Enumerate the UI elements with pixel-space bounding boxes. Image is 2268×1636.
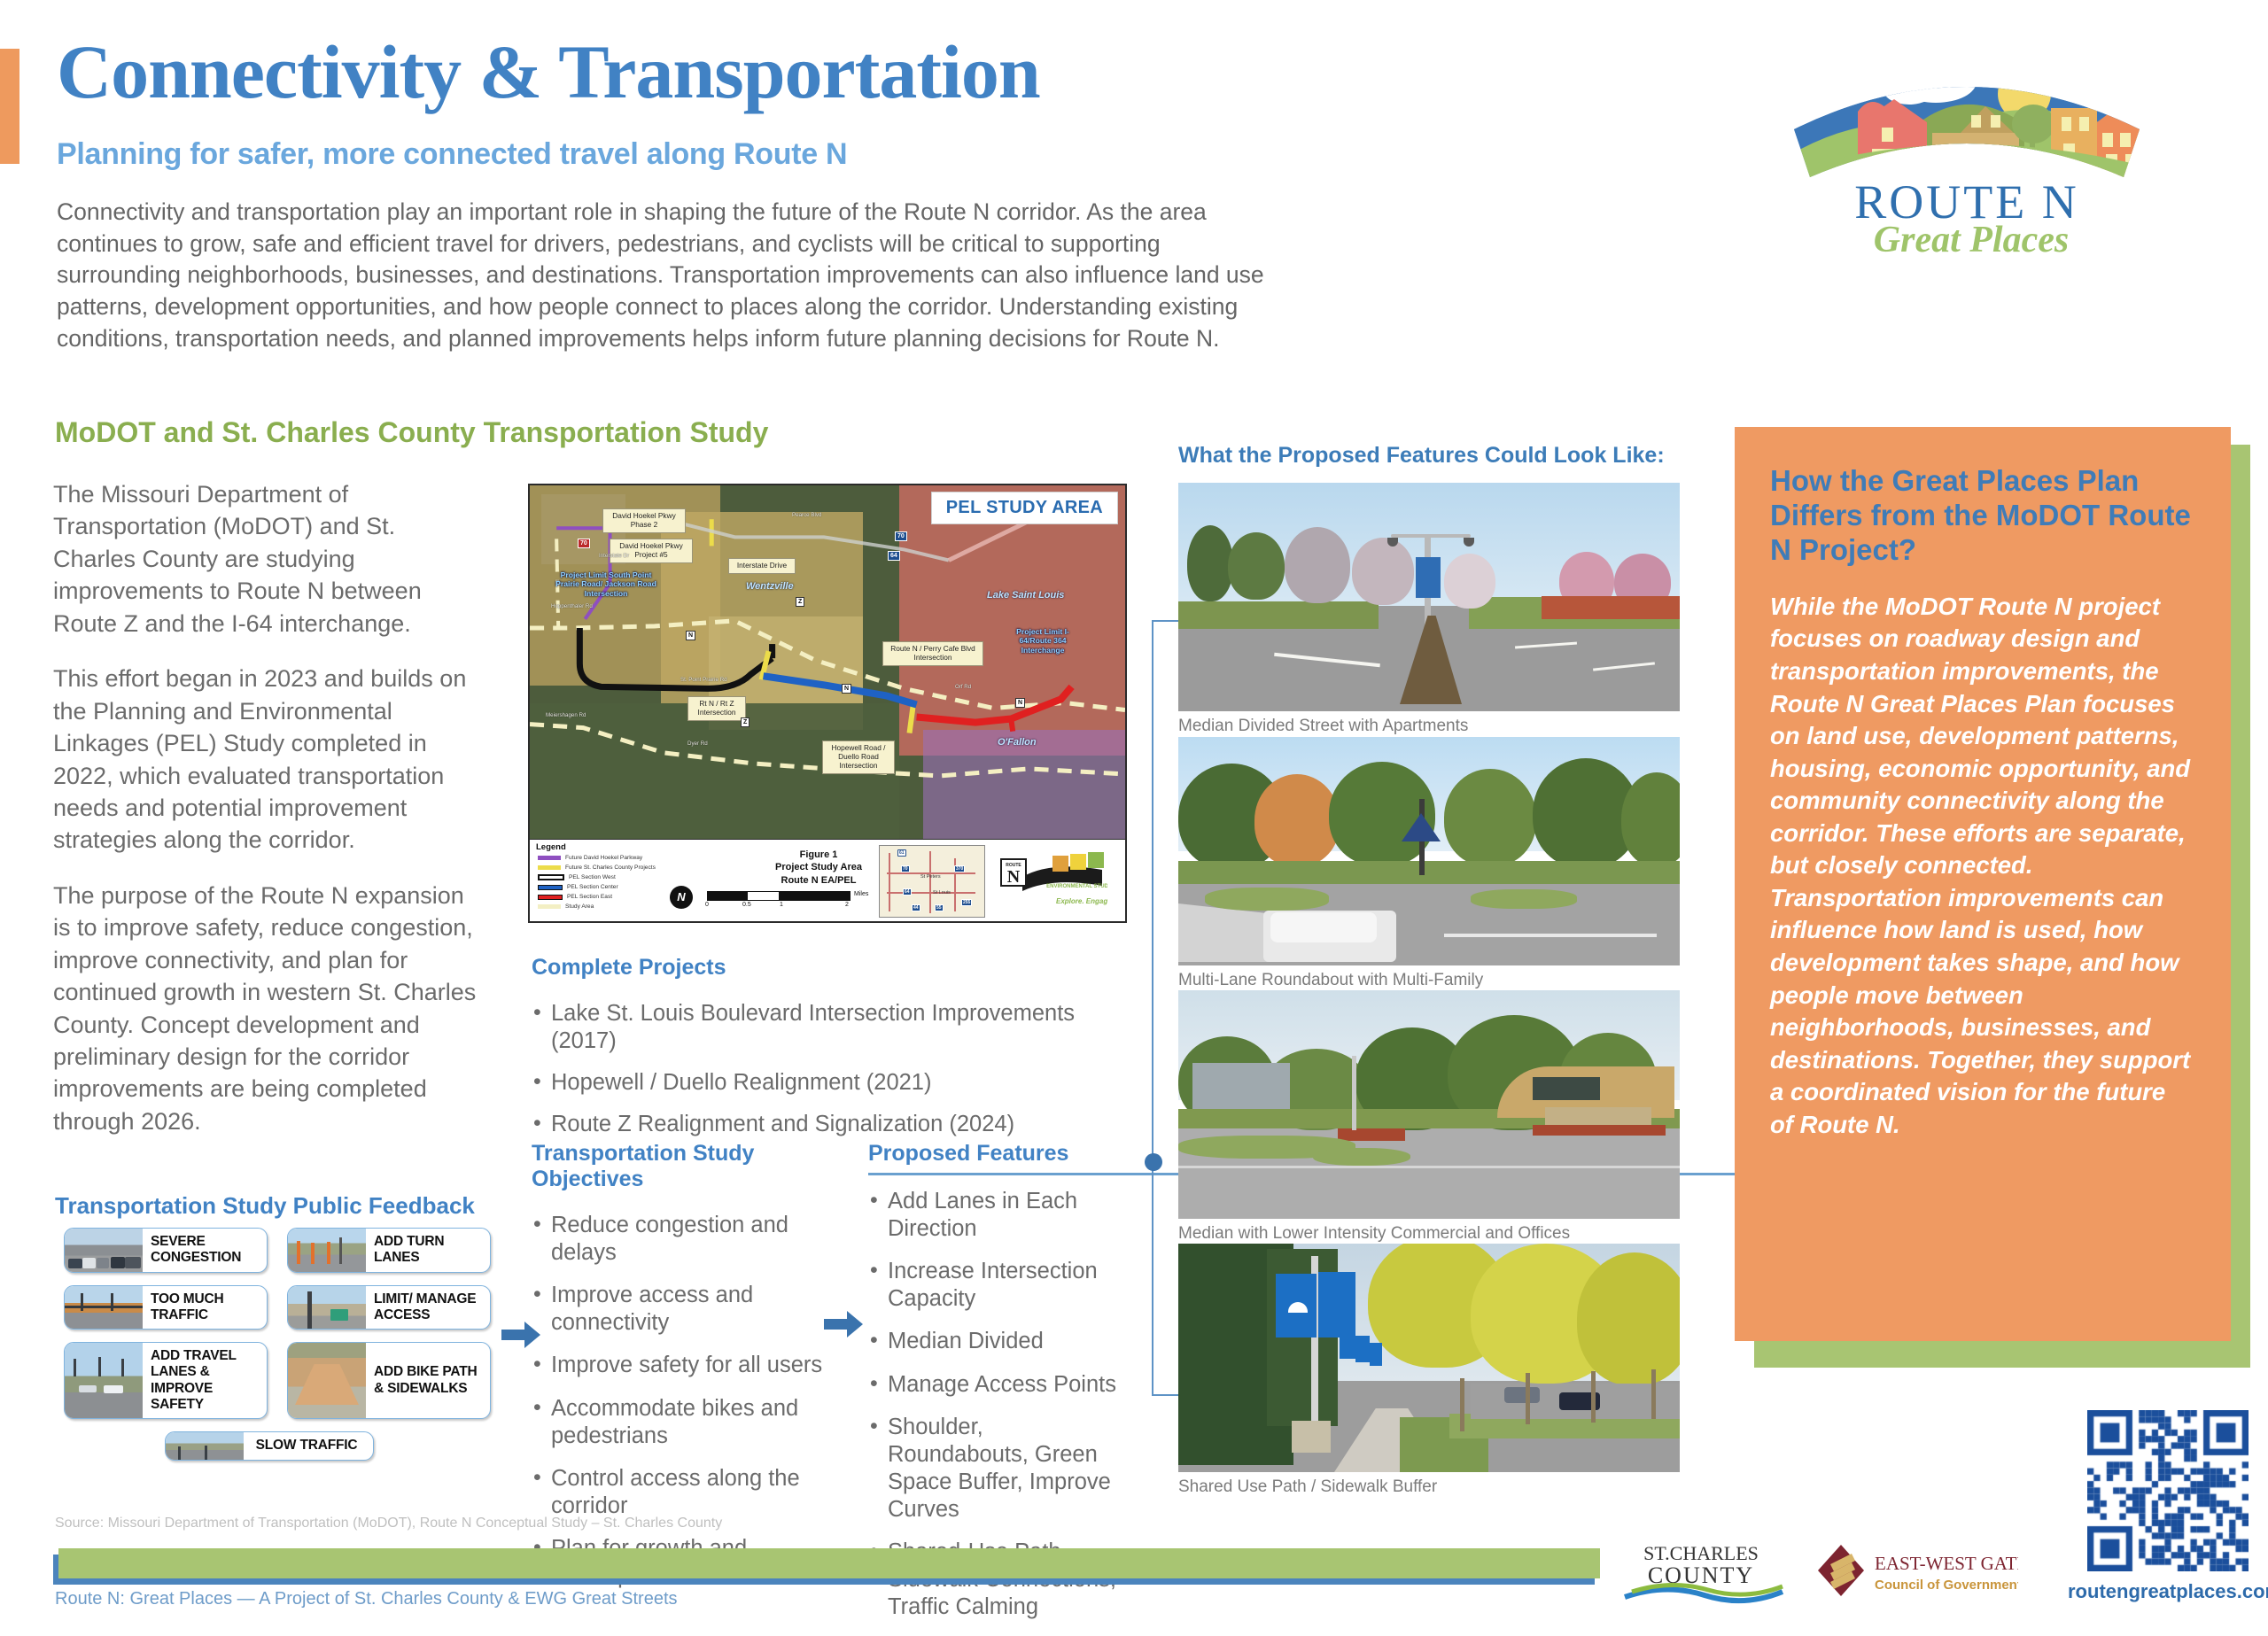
legend-swatch: [538, 885, 563, 890]
map-project-limit: Project Limit I-64/Route 364 Interchange: [1008, 627, 1077, 655]
connector-dot: [1145, 1153, 1162, 1171]
nlogo-text: ENVIRONMENTAL STUDY: [1046, 884, 1107, 889]
feedback-note: SEVERE CONGESTION: [64, 1228, 268, 1273]
legend-label: Future St. Charles County Projects: [565, 865, 656, 871]
route-n-great-places-logo: ROUTE N Great Places: [1759, 25, 2175, 264]
map-callout: Interstate Drive: [728, 558, 796, 574]
inset-shield: 55: [935, 904, 944, 911]
inset-shield: 255: [961, 899, 972, 906]
proposed-features-heading: Proposed Features: [868, 1141, 1125, 1167]
list-item: Route Z Realignment and Signalization (2…: [532, 1111, 1134, 1138]
map-legend-row: Future St. Charles County Projects: [538, 865, 656, 871]
map-route-shield: 70: [895, 531, 907, 541]
feedback-note: ADD TRAVEL LANES & IMPROVE SAFETY: [64, 1342, 268, 1419]
list-item: Manage Access Points: [868, 1371, 1125, 1399]
intro-paragraph: Connectivity and transportation play an …: [57, 197, 1288, 354]
map-road-label: Interstate Dr: [599, 553, 629, 559]
photo-card: Median Divided Street with Apartments: [1178, 483, 1680, 736]
map-city-label: Wentzville: [746, 581, 794, 592]
scale-tick: 1: [780, 902, 783, 908]
legend-swatch: [538, 895, 563, 900]
nlogo-tagline: Explore. Engage. Improve.: [1056, 897, 1107, 905]
feedback-note-label: TOO MUCH TRAFFIC: [143, 1286, 267, 1330]
inset-city: St Peters: [920, 874, 941, 880]
list-item: Accommodate bikes and pedestrians: [532, 1395, 824, 1450]
feedback-note-label: SEVERE CONGESTION: [143, 1229, 267, 1272]
logo-tagline: Great Places: [1874, 220, 2069, 260]
study-paragraph-3: The purpose of the Route N expansion is …: [53, 880, 478, 1138]
objectives-list: Reduce congestion and delays Improve acc…: [532, 1212, 824, 1590]
figure-sub-1: Project Study Area: [739, 861, 898, 873]
study-description: The Missouri Department of Transportatio…: [53, 478, 478, 1160]
map-callout: David Hoekel Pkwy Project #5: [610, 539, 693, 563]
map-road-label: Meiershagen Rd: [546, 712, 586, 718]
public-feedback-heading: Transportation Study Public Feedback: [55, 1192, 475, 1220]
list-item: Median Divided: [868, 1328, 1125, 1355]
scale-unit: Miles: [854, 891, 868, 897]
svg-text:N: N: [1007, 867, 1021, 887]
map-legend-row: Study Area: [538, 903, 594, 910]
feedback-thumbnail: [65, 1286, 143, 1330]
study-paragraph-2: This effort began in 2023 and builds on …: [53, 663, 478, 857]
section-heading: MoDOT and St. Charles County Transportat…: [55, 416, 768, 449]
feedback-note: SLOW TRAFFIC: [165, 1431, 374, 1460]
objectives-heading: Transportation Study Objectives: [532, 1141, 824, 1192]
map-scale-bar: [707, 891, 850, 901]
map-road-label: Hoppenthaler Rd: [551, 603, 593, 609]
list-item: Increase Intersection Capacity: [868, 1258, 1125, 1313]
inset-shield: 61: [897, 849, 906, 857]
legend-label: PEL Section West: [569, 874, 616, 880]
photo-multilane-roundabout: [1178, 737, 1680, 965]
map-legend-row: PEL Section West: [538, 874, 616, 880]
legend-swatch: [538, 874, 564, 880]
scale-tick: 0.5: [742, 902, 751, 908]
inset-shield: 70: [901, 865, 910, 872]
feedback-thumbnail: [288, 1229, 366, 1272]
panel-body: While the MoDOT Route N project focuses …: [1735, 568, 2231, 1142]
accent-tab: [0, 49, 19, 164]
feedback-note: ADD BIKE PATH & SIDEWALKS: [287, 1342, 491, 1419]
photo-card: Median with Lower Intensity Commercial a…: [1178, 990, 1680, 1244]
map-legend-row: Future David Hoekel Parkway: [538, 855, 642, 861]
legend-swatch: [538, 865, 561, 870]
list-item: Improve access and connectivity: [532, 1282, 824, 1337]
photo-caption: Median with Lower Intensity Commercial a…: [1178, 1219, 1680, 1244]
inset-city: St Louis: [933, 890, 951, 896]
map-road-label: Pearce Blvd: [792, 512, 821, 518]
page-subtitle: Planning for safer, more connected trave…: [57, 137, 847, 172]
figure-number: Figure 1: [739, 849, 898, 861]
public-feedback-notes: SEVERE CONGESTION ADD TURN LANES: [64, 1228, 560, 1473]
feedback-thumbnail: [65, 1229, 143, 1272]
feedback-thumbnail: [288, 1286, 366, 1330]
map-road-label: Dyer Rd: [687, 740, 708, 747]
panel-heading: How the Great Places Plan Differs from t…: [1735, 427, 2231, 568]
feedback-note-label: ADD TRAVEL LANES & IMPROVE SAFETY: [143, 1343, 267, 1418]
inset-shield: 44: [912, 904, 920, 911]
map-callout: Hopewell Road / Duello Road Intersection: [822, 740, 895, 774]
flow-arrow-middle: [824, 1309, 863, 1339]
map-figure-caption: Figure 1 Project Study Area Route N EA/P…: [739, 849, 898, 887]
footer-note: Route N: Great Places — A Project of St.…: [55, 1589, 678, 1609]
legend-label: PEL Section East: [567, 894, 612, 900]
feedback-note: TOO MUCH TRAFFIC: [64, 1285, 268, 1330]
map-route-shield: 70: [578, 539, 590, 548]
map-route-shield: Z: [796, 597, 804, 607]
map-project-limit: Project Limit South Point Prairie Road/ …: [553, 570, 659, 598]
east-west-gateway-logo: EAST-WEST GATEWAY Council of Governments: [1814, 1541, 2018, 1600]
objectives-block: Transportation Study Objectives Reduce c…: [532, 1141, 824, 1605]
list-item: Reduce congestion and delays: [532, 1212, 824, 1267]
pel-study-area-map: PEL STUDY AREA David Hoekel Pkwy Phase 2…: [528, 484, 1127, 923]
route-n-environmental-study-logo: ROUTE N ENVIRONMENTAL STUDY Explore. Eng…: [998, 847, 1107, 912]
map-route-shield: 64: [888, 551, 900, 561]
north-arrow-icon: N: [670, 886, 693, 909]
map-legend-row: PEL Section Center: [538, 884, 618, 890]
legend-swatch: [538, 904, 561, 909]
photo-median-lower-intensity-commercial: [1178, 990, 1680, 1219]
photo-caption: Multi-Lane Roundabout with Multi-Family: [1178, 965, 1680, 990]
map-route-shield: N: [1015, 698, 1025, 708]
map-road-label: Orf Rd: [955, 684, 971, 690]
legend-label: Study Area: [565, 903, 594, 910]
inset-shield: 64: [903, 888, 912, 896]
photo-caption: Median Divided Street with Apartments: [1178, 711, 1680, 736]
ewg-line2: Council of Governments: [1875, 1578, 2018, 1593]
inset-shield: 370: [954, 865, 965, 872]
list-item: Add Lanes in Each Direction: [868, 1188, 1125, 1243]
scale-tick: 0: [705, 902, 709, 908]
feedback-thumbnail: [65, 1343, 143, 1418]
legend-label: Future David Hoekel Parkway: [565, 855, 642, 861]
poster-page: Connectivity & Transportation Planning f…: [0, 0, 2268, 1619]
study-paragraph-1: The Missouri Department of Transportatio…: [53, 478, 478, 640]
map-callout: Rt N / Rt Z Intersection: [687, 696, 746, 721]
map-route-shield: N: [842, 684, 851, 694]
st-charles-county-logo: ST.CHARLES COUNTY: [1612, 1537, 1790, 1606]
complete-projects-list: Lake St. Louis Boulevard Intersection Im…: [532, 1000, 1134, 1138]
list-item: Lake St. Louis Boulevard Intersection Im…: [532, 1000, 1134, 1055]
footer-bar: [58, 1548, 1600, 1578]
map-road-label: St. Point Prairie Rd: [680, 677, 727, 683]
feedback-thumbnail: [288, 1343, 366, 1418]
feedback-note: ADD TURN LANES: [287, 1228, 491, 1273]
figure-sub-2: Route N EA/PEL: [739, 874, 898, 887]
feedback-thumbnail: [166, 1432, 244, 1459]
map-locator-inset: 61 70 64 370 44 55 255 St Peters St Loui…: [879, 845, 985, 918]
legend-label: PEL Section Center: [567, 884, 618, 890]
list-item: Shoulder, Roundabouts, Green Space Buffe…: [868, 1414, 1125, 1524]
legend-swatch: [538, 856, 561, 860]
feedback-note: LIMIT/ MANAGE ACCESS: [287, 1285, 491, 1330]
map-route-shield: N: [686, 631, 695, 640]
great-places-vs-modot-panel: How the Great Places Plan Differs from t…: [1735, 427, 2231, 1341]
photo-caption: Shared Use Path / Sidewalk Buffer: [1178, 1472, 1680, 1497]
website-url[interactable]: routengreatplaces.com: [2068, 1580, 2268, 1603]
map-route-shield: Z: [741, 717, 750, 727]
photo-card: Shared Use Path / Sidewalk Buffer: [1178, 1244, 1680, 1497]
complete-projects-block: Complete Projects Lake St. Louis Bouleva…: [532, 955, 1134, 1152]
map-badge: PEL STUDY AREA: [932, 492, 1117, 523]
feedback-note-label: ADD BIKE PATH & SIDEWALKS: [366, 1343, 490, 1418]
photos-heading: What the Proposed Features Could Look Li…: [1178, 443, 1665, 469]
photo-median-divided-street: [1178, 483, 1680, 711]
map-city-label: Lake Saint Louis: [987, 590, 1064, 601]
ewg-line1: EAST-WEST GATEWAY: [1875, 1553, 2018, 1574]
feedback-note-label: ADD TURN LANES: [366, 1229, 490, 1272]
map-callout: David Hoekel Pkwy Phase 2: [602, 508, 686, 533]
page-title: Connectivity & Transportation: [57, 34, 1040, 110]
feedback-note-label: SLOW TRAFFIC: [244, 1432, 373, 1459]
photo-card: Multi-Lane Roundabout with Multi-Family: [1178, 737, 1680, 990]
map-city-label: O'Fallon: [998, 737, 1037, 748]
connector-bracket: [1152, 620, 1180, 1396]
list-item: Improve safety for all users: [532, 1352, 824, 1379]
map-legend-row: PEL Section East: [538, 894, 612, 900]
feedback-note-label: LIMIT/ MANAGE ACCESS: [366, 1286, 490, 1330]
map-legend: Legend Future David Hoekel Parkway Futur…: [530, 839, 1125, 921]
photo-shared-use-path: [1178, 1244, 1680, 1472]
list-item: Control access along the corridor: [532, 1465, 824, 1520]
scale-tick: 2: [845, 902, 849, 908]
scc-line1: ST.CHARLES: [1643, 1542, 1759, 1564]
map-legend-title: Legend: [536, 842, 566, 852]
complete-projects-heading: Complete Projects: [532, 955, 1134, 981]
qr-code[interactable]: [2087, 1410, 2249, 1571]
map-callout: Route N / Perry Cafe Blvd Intersection: [882, 641, 983, 666]
list-item: Hopewell / Duello Realignment (2021): [532, 1069, 1134, 1097]
